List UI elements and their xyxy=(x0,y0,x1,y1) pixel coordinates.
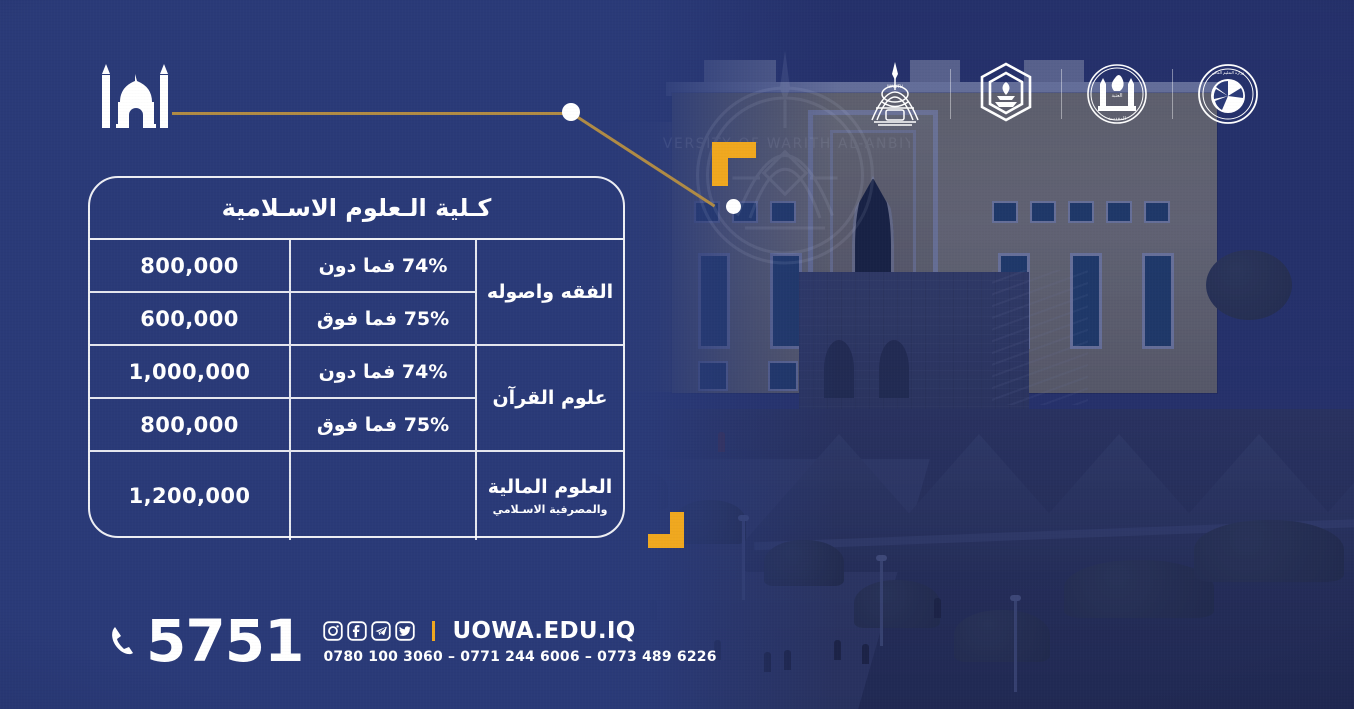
footer-contact-bar: 5751 xyxy=(110,615,717,667)
department-subtitle: والمصرفية الاسـلامي xyxy=(493,503,608,516)
ministry-of-higher-education-emblem: وزارة التعليم العالي xyxy=(1195,58,1261,130)
table-cell-percentage: 75% فما فوق xyxy=(289,293,475,346)
hexagon-institute-emblem xyxy=(973,58,1039,130)
website-url[interactable]: UOWA.EDU.IQ xyxy=(452,618,635,644)
logo-divider xyxy=(1172,69,1173,119)
telegram-icon[interactable] xyxy=(371,621,391,641)
department-name: علوم القرآن xyxy=(492,387,607,410)
table-cell-department: الفقه واصوله xyxy=(475,240,623,346)
table-cell-percentage xyxy=(289,452,475,540)
contact-details: UOWA.EDU.IQ 0780 100 3060 – 0771 244 600… xyxy=(323,615,716,665)
social-icons xyxy=(323,621,415,641)
department-name: العلوم المالية xyxy=(488,476,613,499)
warith-al-anbiyaa-university-emblem: WARITH xyxy=(862,58,928,130)
al-abbas-holy-shrine-emblem: العتبة المقدسة xyxy=(1084,58,1150,130)
tuition-card: كـلية الـعلوم الاسـلامية الفقه واصوله 74… xyxy=(88,176,625,538)
mosque-icon xyxy=(96,58,176,134)
corner-bracket-icon xyxy=(648,512,684,548)
department-name: الفقه واصوله xyxy=(487,281,613,304)
phone-handset-icon xyxy=(110,625,136,657)
svg-text:المقدسة: المقدسة xyxy=(1108,116,1126,122)
facebook-icon[interactable] xyxy=(347,621,367,641)
social-and-site-row: UOWA.EDU.IQ xyxy=(323,618,716,644)
partner-logos: WARITH xyxy=(862,58,1261,130)
connector-dot xyxy=(726,199,741,214)
table-cell-fee: 600,000 xyxy=(90,293,289,346)
table-cell-fee: 1,200,000 xyxy=(90,452,289,540)
connector-line-horizontal xyxy=(172,112,570,115)
corner-bracket-icon xyxy=(712,142,756,186)
logo-divider xyxy=(1061,69,1062,119)
hotline-block: 5751 xyxy=(110,615,303,667)
table-cell-fee: 800,000 xyxy=(90,240,289,293)
tuition-table: الفقه واصوله 74% فما دون 800,000 75% فما… xyxy=(90,238,623,536)
hotline-number: 5751 xyxy=(146,615,303,667)
card-title: كـلية الـعلوم الاسـلامية xyxy=(90,178,623,238)
table-cell-percentage: 75% فما فوق xyxy=(289,399,475,452)
svg-text:العتبة: العتبة xyxy=(1111,93,1122,99)
twitter-icon[interactable] xyxy=(395,621,415,641)
table-cell-department: علوم القرآن xyxy=(475,346,623,452)
logo-divider xyxy=(950,69,951,119)
poster-canvas: UNIVERSITY OF WARITH AL-ANBIYAA xyxy=(0,0,1354,709)
table-cell-percentage: 74% فما دون xyxy=(289,240,475,293)
instagram-icon[interactable] xyxy=(323,621,343,641)
table-cell-department: العلوم المالية والمصرفية الاسـلامي xyxy=(475,452,623,540)
phone-numbers: 0780 100 3060 – 0771 244 6006 – 0773 489… xyxy=(323,649,716,665)
svg-text:وزارة التعليم العالي: وزارة التعليم العالي xyxy=(1212,70,1244,75)
svg-text:WARITH: WARITH xyxy=(887,84,903,89)
table-cell-percentage: 74% فما دون xyxy=(289,346,475,399)
connector-dot xyxy=(562,103,580,121)
table-cell-fee: 800,000 xyxy=(90,399,289,452)
gold-divider xyxy=(432,621,435,641)
table-cell-fee: 1,000,000 xyxy=(90,346,289,399)
